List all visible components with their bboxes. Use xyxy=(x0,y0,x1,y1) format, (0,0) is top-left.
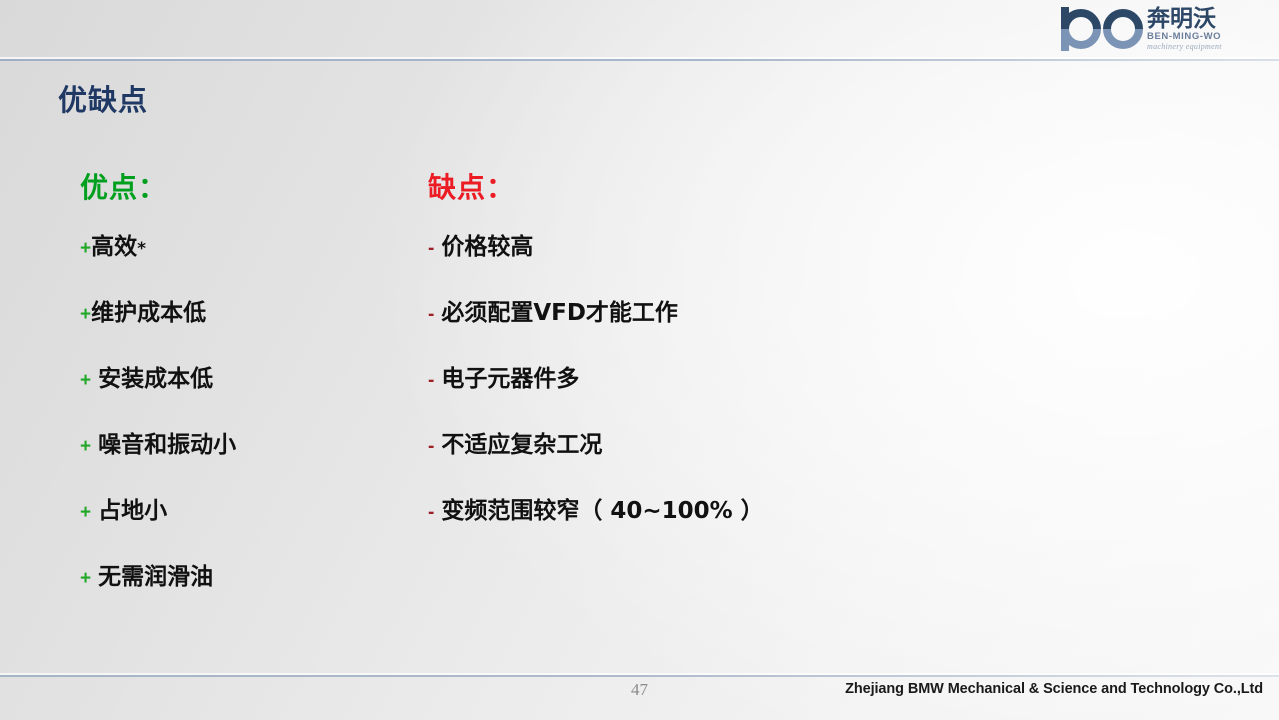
list-item: + 安装成本低 xyxy=(80,364,420,396)
list-item-label: 维护成本低 xyxy=(91,298,206,328)
plus-marker-icon: + xyxy=(80,564,91,594)
list-item: - 变频范围较窄（ 40~100% ） xyxy=(428,496,1068,528)
header-divider xyxy=(0,59,1279,61)
cons-heading: 缺点： xyxy=(428,168,1068,208)
minus-marker-icon: - xyxy=(428,366,434,396)
plus-marker-icon: + xyxy=(80,366,91,396)
list-item-label: 电子元器件多 xyxy=(441,364,579,394)
plus-marker-icon: + xyxy=(80,300,91,330)
minus-marker-icon: - xyxy=(428,234,434,264)
list-item: + 高效 * xyxy=(80,232,420,264)
logo-tagline: machinery equipment xyxy=(1147,42,1222,52)
logo-latin-name: BEN-MING-WO xyxy=(1147,31,1222,42)
list-item-label: 不适应复杂工况 xyxy=(441,430,602,460)
footer-divider xyxy=(0,675,1279,677)
list-item: - 电子元器件多 xyxy=(428,364,1068,396)
logo-chinese-name: 奔明沃 xyxy=(1147,7,1222,31)
bo-monogram-icon xyxy=(1061,7,1145,51)
list-item-label: 高效 xyxy=(91,232,137,262)
list-item: - 必须配置VFD才能工作 xyxy=(428,298,1068,330)
list-item-label: 安装成本低 xyxy=(98,364,213,394)
company-logo: 奔明沃 BEN-MING-WO machinery equipment xyxy=(1061,4,1269,54)
pros-column: 优点： + 高效 * + 维护成本低 + 安装成本低 + 噪音和振动小 + 占地… xyxy=(80,168,420,628)
list-item-label: 变频范围较窄（ 40~100% ） xyxy=(441,496,763,526)
list-item: - 价格较高 xyxy=(428,232,1068,264)
minus-marker-icon: - xyxy=(428,498,434,528)
plus-marker-icon: + xyxy=(80,234,91,264)
list-item: + 无需润滑油 xyxy=(80,562,420,594)
list-item: + 噪音和振动小 xyxy=(80,430,420,462)
page-title: 优缺点 xyxy=(58,80,148,120)
minus-marker-icon: - xyxy=(428,432,434,462)
slide: 奔明沃 BEN-MING-WO machinery equipment 优缺点 … xyxy=(0,0,1279,720)
list-item: - 不适应复杂工况 xyxy=(428,430,1068,462)
minus-marker-icon: - xyxy=(428,300,434,330)
footer-company-name: Zhejiang BMW Mechanical & Science and Te… xyxy=(845,681,1263,697)
list-item: + 占地小 xyxy=(80,496,420,528)
logo-wordmark: 奔明沃 BEN-MING-WO machinery equipment xyxy=(1147,7,1222,51)
plus-marker-icon: + xyxy=(80,498,91,528)
plus-marker-icon: + xyxy=(80,432,91,462)
pros-heading: 优点： xyxy=(80,168,420,208)
list-item-label: 价格较高 xyxy=(441,232,533,262)
list-item-label: 占地小 xyxy=(98,496,167,526)
list-item-label: 噪音和振动小 xyxy=(98,430,236,460)
list-item: + 维护成本低 xyxy=(80,298,420,330)
list-item-label: 无需润滑油 xyxy=(98,562,213,592)
cons-column: 缺点： - 价格较高 - 必须配置VFD才能工作 - 电子元器件多 - 不适应复… xyxy=(428,168,1068,562)
list-item-label: 必须配置VFD才能工作 xyxy=(441,298,678,328)
